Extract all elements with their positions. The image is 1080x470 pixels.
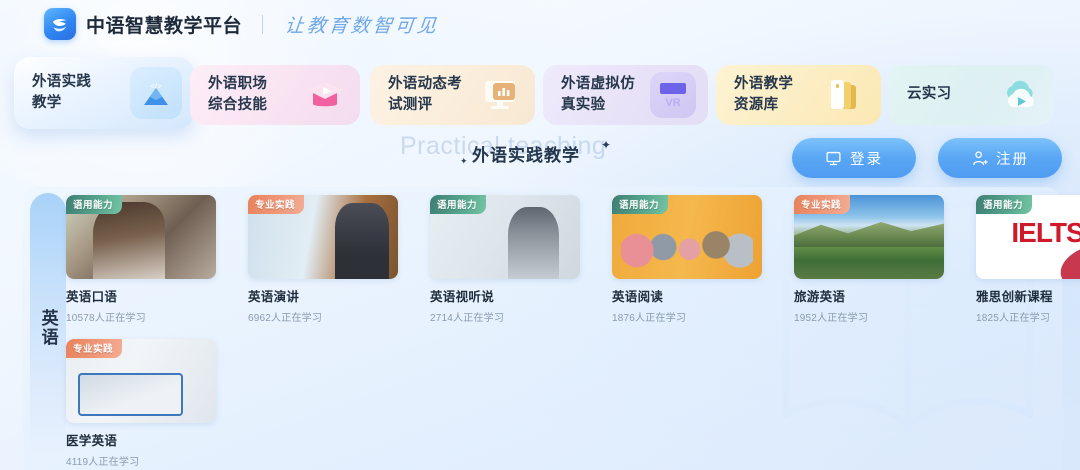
course-learner-count: 6962人正在学习	[248, 309, 398, 324]
course-badge: 专业实践	[794, 195, 850, 214]
monitor-icon	[825, 150, 842, 167]
page-root: 中语智慧教学平台 让教育数智可见 外语实践 教学 </> 外语职场 综合技能	[0, 0, 1080, 470]
course-title: 英语演讲	[248, 286, 398, 305]
course-thumbnail[interactable]: 专业实践	[794, 195, 944, 279]
page-header: 中语智慧教学平台 让教育数智可见	[0, 0, 1080, 50]
course-title: 医学英语	[66, 430, 226, 449]
course-card[interactable]: 语用能力 英语视听说 2714人正在学习	[430, 195, 580, 324]
vr-headset-icon: VR	[650, 72, 696, 118]
course-title: 英语视听说	[430, 286, 580, 305]
section-title-block: Practical teaching ✦ 外语实践教学 ✦	[400, 130, 700, 172]
course-card[interactable]: 语用能力 英语口语 10578人正在学习	[66, 195, 216, 324]
page-title: 外语实践教学	[472, 141, 580, 166]
course-card[interactable]: 专业实践 旅游英语 1952人正在学习	[794, 195, 944, 324]
course-badge: 语用能力	[66, 195, 122, 214]
svg-text:VR: VR	[665, 97, 680, 109]
course-title: 雅思创新课程	[976, 286, 1080, 305]
books-icon	[823, 72, 869, 118]
course-thumbnail[interactable]: 语用能力	[66, 195, 216, 279]
login-label: 登录	[850, 148, 883, 169]
course-row: 语用能力 英语口语 10578人正在学习 专业实践 英语演讲 6962人正在学习	[66, 195, 1056, 324]
course-thumbnail[interactable]: 专业实践	[66, 339, 216, 423]
login-button[interactable]: 登录	[792, 138, 916, 178]
cloud-play-icon	[996, 72, 1042, 118]
ielts-logo-text: IELTS™	[976, 217, 1080, 249]
sparkle-icon-right: ✦	[601, 138, 611, 152]
nav-tab-dynamic-assessment[interactable]: 外语动态考 试测评	[370, 65, 535, 125]
course-catalog-panel: 英语 语用能力 英语口语 10578人正在学习 专业实践	[22, 187, 1062, 470]
monitor-chart-icon	[477, 72, 523, 118]
course-card[interactable]: 专业实践 英语演讲 6962人正在学习	[248, 195, 398, 324]
nav-tab-practice-teaching[interactable]: 外语实践 教学 </>	[14, 57, 194, 129]
course-title: 旅游英语	[794, 286, 944, 305]
course-badge: 语用能力	[430, 195, 486, 214]
register-label: 注册	[996, 148, 1029, 169]
course-badge: 语用能力	[612, 195, 668, 214]
nav-tab-vr-experiment[interactable]: 外语虚拟仿 真实验 VR	[543, 65, 708, 125]
nav-tab-label: 外语动态考 试测评	[388, 74, 462, 116]
course-thumbnail[interactable]: 语用能力	[612, 195, 762, 279]
course-learner-count: 1876人正在学习	[612, 309, 762, 324]
course-row: 专业实践 医学英语 4119人正在学习	[66, 339, 1056, 468]
sparkle-icon-left: ✦	[460, 156, 468, 167]
brand-name: 中语智慧教学平台	[86, 11, 242, 38]
course-title: 英语阅读	[612, 286, 762, 305]
course-thumbnail[interactable]: 专业实践	[248, 195, 398, 279]
nav-tab-label: 外语教学 资源库	[734, 74, 793, 116]
course-learner-count: 10578人正在学习	[66, 309, 216, 324]
nav-tab-label: 外语实践 教学	[32, 72, 91, 114]
main-nav: 外语实践 教学 </> 外语职场 综合技能 外语动态考 试测评	[0, 55, 1080, 135]
graduation-cap-icon	[302, 72, 348, 118]
course-card[interactable]: 语用能力 英语阅读 1876人正在学习	[612, 195, 762, 324]
brand[interactable]: 中语智慧教学平台 让教育数智可见	[44, 8, 439, 40]
nav-tab-label: 外语虚拟仿 真实验	[561, 74, 635, 116]
course-badge: 语用能力	[976, 195, 1032, 214]
course-grid: 语用能力 英语口语 10578人正在学习 专业实践 英语演讲 6962人正在学习	[66, 195, 1056, 468]
platform-logo-icon	[44, 8, 76, 40]
nav-tab-label: 云实习	[907, 84, 951, 105]
nav-tab-resource-library[interactable]: 外语教学 资源库	[716, 65, 881, 125]
nav-tab-workplace-skills[interactable]: 外语职场 综合技能	[190, 65, 360, 125]
brand-divider	[262, 15, 263, 34]
course-thumbnail[interactable]: IELTS™ 语用能力	[976, 195, 1080, 279]
user-plus-icon	[971, 150, 988, 167]
category-rail-english[interactable]: 英语	[30, 193, 66, 463]
course-learner-count: 2714人正在学习	[430, 309, 580, 324]
ielts-word: IELTS	[1011, 217, 1080, 248]
category-rail-label: 英语	[37, 309, 58, 347]
register-button[interactable]: 注册	[938, 138, 1062, 178]
course-title: 英语口语	[66, 286, 216, 305]
course-learner-count: 1825人正在学习	[976, 309, 1080, 324]
course-badge: 专业实践	[66, 339, 122, 358]
course-thumbnail[interactable]: 语用能力	[430, 195, 580, 279]
auth-actions: 登录 注册	[792, 138, 1062, 178]
course-learner-count: 1952人正在学习	[794, 309, 944, 324]
course-card[interactable]: IELTS™ 语用能力 雅思创新课程 1825人正在学习	[976, 195, 1080, 324]
course-badge: 专业实践	[248, 195, 304, 214]
nav-tab-cloud-internship[interactable]: 云实习	[889, 65, 1054, 125]
course-card[interactable]: 专业实践 医学英语 4119人正在学习	[66, 339, 226, 468]
brand-slogan: 让教育数智可见	[284, 11, 441, 38]
nav-tab-label: 外语职场 综合技能	[208, 74, 267, 116]
course-learner-count: 4119人正在学习	[66, 453, 226, 468]
mountain-code-icon: </>	[130, 67, 182, 119]
